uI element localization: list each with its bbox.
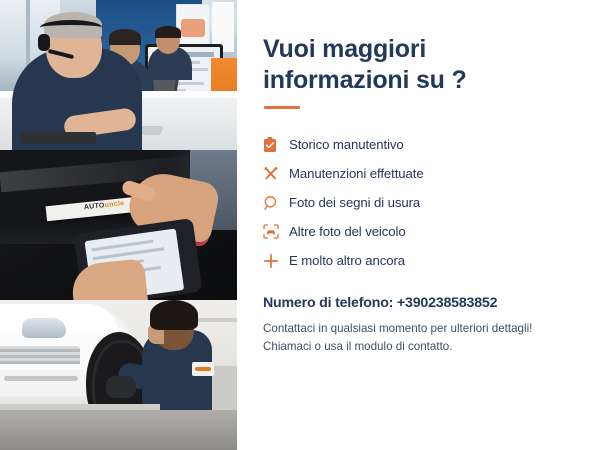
photo-body-inspection: AUTOuncle (0, 150, 237, 300)
headset-earcup-decor (38, 34, 50, 51)
page-title: Vuoi maggiori informazioni su ? (263, 34, 478, 95)
photo-column: AUTOuncle (0, 0, 237, 450)
lift-platform-decor (0, 410, 237, 450)
middle-worker-hair-decor (109, 29, 141, 45)
headlight-decor (22, 318, 66, 338)
contact-description: Contattaci in qualsiasi momento per ulte… (263, 320, 590, 355)
mechanic-glove-decor (106, 376, 136, 398)
list-item-label: Altre foto del veicolo (289, 224, 406, 239)
list-item: Manutenzioni effettuate (263, 159, 590, 188)
photo-wheel-inspection (0, 300, 237, 450)
tablet-on-desk-decor (20, 132, 96, 144)
list-item-label: Storico manutentivo (289, 137, 404, 152)
list-item: Storico manutentivo (263, 130, 590, 159)
list-item: Foto dei segni di usura (263, 188, 590, 217)
list-item-label: E molto altro ancora (289, 253, 405, 268)
content-panel: Vuoi maggiori informazioni su ? Storico … (237, 0, 600, 450)
list-item: Altre foto del veicolo (263, 217, 590, 246)
headline-line-1: Vuoi maggiori (263, 35, 426, 63)
car-grille-decor (0, 346, 80, 364)
magnifier-icon (263, 195, 289, 211)
headline-line-2: informazioni su ? (263, 66, 467, 94)
background-worker-hair-decor (155, 26, 181, 38)
uniform-logo-patch-decor (192, 362, 214, 376)
content-inner: Vuoi maggiori informazioni su ? Storico … (263, 34, 590, 355)
clipboard-check-icon (263, 137, 289, 153)
photo-frame-car-icon (263, 224, 289, 239)
plus-icon (263, 253, 289, 269)
advertisement-banner: AUTOuncle (0, 0, 600, 450)
list-item: E molto altro ancora (263, 246, 590, 275)
photo-call-center (0, 0, 237, 150)
contact-description-line-2: Chiamaci o usa il modulo di contatto. (263, 340, 452, 353)
phone-number-label[interactable]: Numero di telefono: +390238583852 (263, 295, 590, 311)
title-divider (264, 106, 300, 109)
car-bumper-decor (0, 370, 98, 396)
mechanic-hair-decor (150, 300, 198, 330)
feature-list: Storico manutentivo Manutenzioni effettu… (263, 130, 590, 275)
chrome-trim-decor (4, 376, 78, 381)
list-item-label: Manutenzioni effettuate (289, 166, 424, 181)
headset-band-decor (40, 20, 102, 35)
list-item-label: Foto dei segni di usura (289, 195, 420, 210)
tools-cross-icon (263, 166, 289, 182)
contact-description-line-1: Contattaci in qualsiasi momento per ulte… (263, 322, 532, 335)
